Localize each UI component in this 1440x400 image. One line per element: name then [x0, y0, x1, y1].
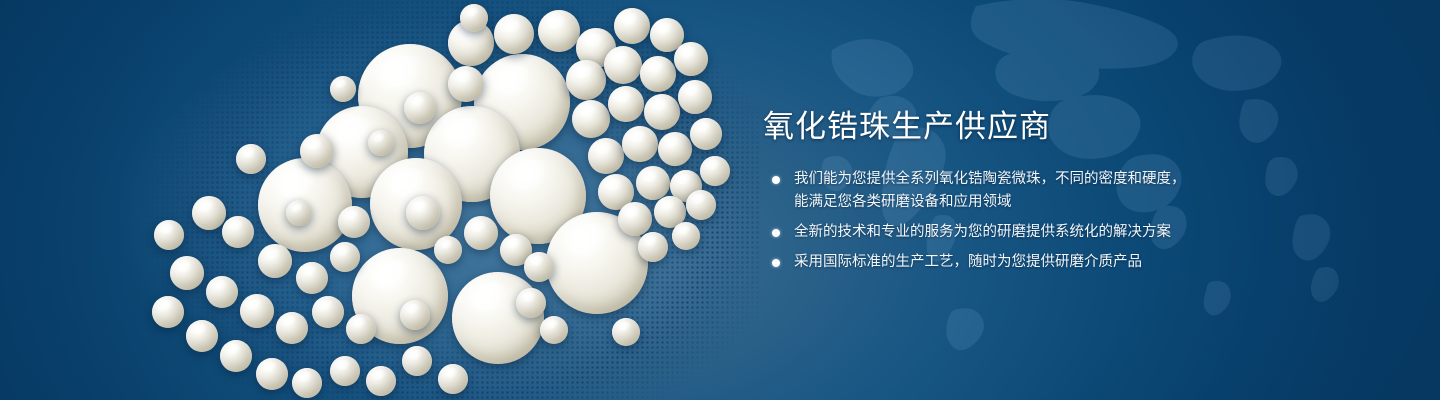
bead: [572, 100, 610, 138]
bead: [686, 190, 716, 220]
bead: [338, 206, 370, 238]
bead: [618, 202, 652, 236]
bead: [636, 166, 670, 200]
list-item: 全新的技术和专业的服务为您的研磨提供系统化的解决方案: [766, 221, 1236, 244]
list-item-text: 我们能为您提供全系列氧化锆陶瓷微珠，不同的密度和硬度，: [794, 171, 1186, 187]
bead: [152, 296, 184, 328]
bead: [170, 256, 204, 290]
list-item-text: 全新的技术和专业的服务为您的研磨提供系统化的解决方案: [794, 224, 1171, 240]
bullet-dot-icon: [772, 259, 780, 267]
bead: [222, 216, 254, 248]
bead: [236, 144, 266, 174]
bead: [346, 314, 376, 344]
page-title: 氧化锆珠生产供应商: [763, 108, 1051, 146]
bead: [540, 316, 568, 344]
bead: [256, 358, 288, 390]
bead: [186, 320, 218, 352]
bead: [700, 156, 730, 186]
bead: [622, 126, 658, 162]
bullet-dot-icon: [772, 229, 780, 237]
bead: [566, 60, 606, 100]
bead: [464, 216, 498, 250]
bead: [538, 10, 580, 52]
bead: [368, 130, 394, 156]
list-item-text-line2: 能满足您各类研磨设备和应用领域: [794, 191, 1236, 214]
bead: [690, 118, 722, 150]
bead: [402, 346, 432, 376]
bead: [524, 252, 554, 282]
bead: [638, 232, 668, 262]
bead: [276, 312, 308, 344]
bead: [672, 222, 700, 250]
bead: [438, 364, 468, 394]
feature-list: 我们能为您提供全系列氧化锆陶瓷微珠，不同的密度和硬度， 能满足您各类研磨设备和应…: [766, 168, 1236, 274]
bead: [296, 262, 328, 294]
bead: [604, 46, 642, 84]
bead: [154, 220, 184, 250]
bead: [206, 276, 238, 308]
bead: [658, 132, 692, 166]
bead: [286, 200, 312, 226]
bullet-dot-icon: [772, 176, 780, 184]
bead: [292, 368, 322, 398]
bead: [240, 294, 274, 328]
bead: [406, 196, 440, 230]
bead: [404, 92, 436, 124]
bead: [330, 242, 360, 272]
bead: [678, 80, 712, 114]
bead: [330, 76, 356, 102]
bead: [192, 196, 226, 230]
bead: [674, 42, 708, 76]
bead: [608, 86, 644, 122]
bead: [258, 244, 292, 278]
bead: [452, 272, 544, 364]
bead: [366, 366, 396, 396]
bead: [330, 356, 360, 386]
bead: [460, 4, 488, 32]
bead: [300, 134, 334, 168]
bead: [612, 318, 640, 346]
bead: [448, 66, 484, 102]
bead: [644, 94, 680, 130]
bead: [640, 56, 676, 92]
list-item-text: 采用国际标准的生产工艺，随时为您提供研磨介质产品: [794, 254, 1142, 270]
list-item: 采用国际标准的生产工艺，随时为您提供研磨介质产品: [766, 251, 1236, 274]
bead: [434, 236, 462, 264]
bead: [588, 138, 624, 174]
bead: [312, 296, 344, 328]
bead: [494, 14, 534, 54]
bead: [220, 340, 252, 372]
hero-banner: 氧化锆珠生产供应商 我们能为您提供全系列氧化锆陶瓷微珠，不同的密度和硬度， 能满…: [0, 0, 1440, 400]
list-item: 我们能为您提供全系列氧化锆陶瓷微珠，不同的密度和硬度， 能满足您各类研磨设备和应…: [766, 168, 1236, 214]
banner-content: 氧化锆珠生产供应商 我们能为您提供全系列氧化锆陶瓷微珠，不同的密度和硬度， 能满…: [763, 0, 1323, 400]
zirconia-beads-image: [0, 0, 760, 400]
bead: [400, 300, 430, 330]
bead: [614, 8, 650, 44]
bead: [516, 288, 546, 318]
